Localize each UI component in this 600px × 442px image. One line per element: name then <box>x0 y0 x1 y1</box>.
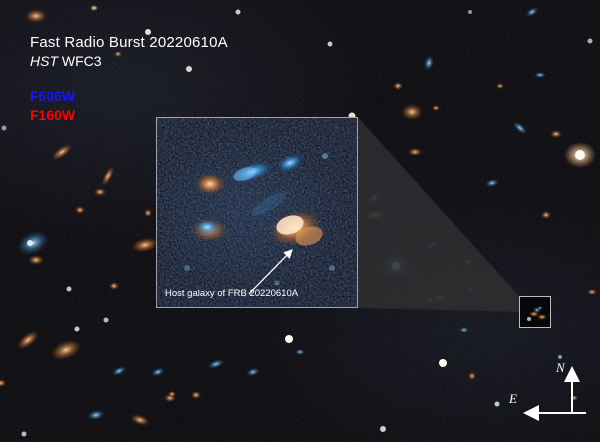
source-region-box <box>519 296 551 328</box>
compass-north-label: N <box>556 360 565 376</box>
frb-host-galaxy-image: Host galaxy of FRB 20220610A Fast Radio … <box>0 0 600 442</box>
filter-label-f606w: F606W <box>30 88 75 104</box>
filter-label-f160w: F160W <box>30 107 75 123</box>
source-region-thumbnail <box>520 297 551 328</box>
inset-caption: Host galaxy of FRB 20220610A <box>165 288 298 299</box>
instrument-rest: WFC3 <box>58 53 102 69</box>
page-title: Fast Radio Burst 20220610A <box>30 34 228 51</box>
instrument-italic: HST <box>30 53 58 69</box>
host-galaxy-pointer-arrow <box>157 118 357 307</box>
instrument-label: HST WFC3 <box>30 53 102 69</box>
inset-panel: Host galaxy of FRB 20220610A <box>156 117 358 308</box>
compass-east-label: E <box>509 391 517 407</box>
